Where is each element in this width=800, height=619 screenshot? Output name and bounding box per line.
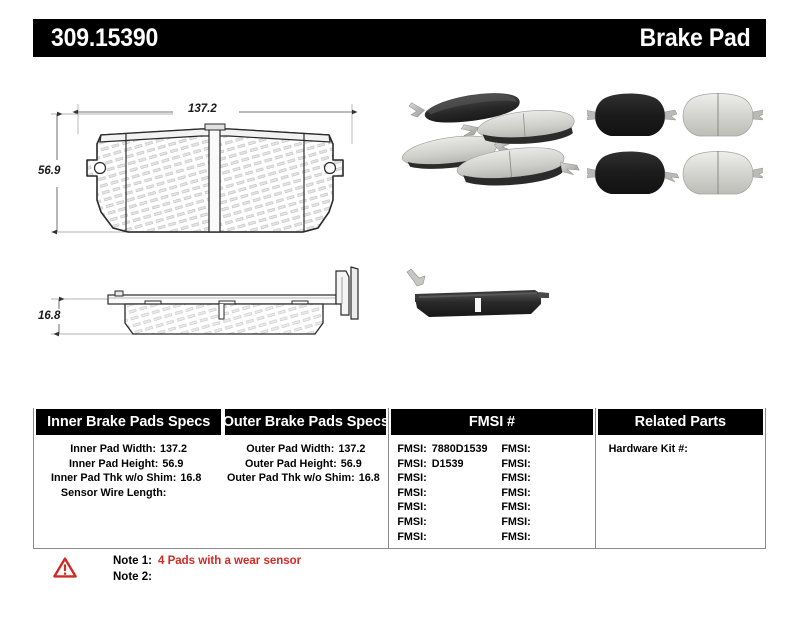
fmsi-value (531, 442, 536, 457)
fmsi-row: FMSI: (501, 500, 535, 515)
page-title: Brake Pad (639, 24, 750, 53)
fmsi-label: FMSI: (397, 515, 426, 530)
fmsi-label: FMSI: (501, 500, 530, 515)
dimension-width-label: 137.2 (185, 103, 220, 115)
spec-row: Outer Pad Height: 56.9 (223, 457, 388, 472)
spec-label: Sensor Wire Length: (61, 486, 166, 501)
brake-pad-photo-top-set (587, 86, 763, 204)
fmsi-value (427, 486, 432, 501)
related-part-label: Hardware Kit #: (609, 442, 688, 457)
fmsi-label: FMSI: (501, 457, 530, 472)
fmsi-row: FMSI: (397, 515, 501, 530)
page-header-bar: 309.15390 Brake Pad (33, 19, 766, 57)
spec-value (166, 486, 196, 501)
fmsi-row: FMSI: (397, 530, 501, 545)
note-2-text (152, 569, 158, 585)
fmsi-value (531, 530, 536, 545)
fmsi-value (427, 500, 432, 515)
note-lines: Note 1: 4 Pads with a wear sensor Note 2… (113, 553, 301, 585)
spec-row: Outer Pad Width: 137.2 (223, 442, 388, 457)
fmsi-label: FMSI: (501, 471, 530, 486)
spec-row: Outer Pad Thk w/o Shim: 16.8 (223, 471, 388, 486)
column-header-outer-specs: Outer Brake Pads Specs (225, 409, 386, 435)
column-body-inner-specs: Inner Pad Width: 137.2 Inner Pad Height:… (34, 435, 223, 500)
fmsi-row: FMSI: (501, 457, 535, 472)
notes-section: Note 1: 4 Pads with a wear sensor Note 2… (53, 553, 301, 585)
spec-value: 56.9 (158, 457, 188, 472)
fmsi-value (531, 486, 536, 501)
spec-value: 56.9 (337, 457, 367, 472)
column-header-fmsi: FMSI # (391, 409, 592, 435)
spec-row: Inner Pad Thk w/o Shim: 16.8 (34, 471, 223, 486)
fmsi-label: FMSI: (397, 486, 426, 501)
fmsi-row: FMSI: (501, 486, 535, 501)
column-body-related-parts: Hardware Kit #: (596, 435, 765, 457)
fmsi-label: FMSI: (501, 530, 530, 545)
brake-pad-front-view-drawing (33, 72, 393, 257)
spec-label: Inner Pad Width: (70, 442, 156, 457)
spec-row: Sensor Wire Length: (34, 486, 223, 501)
fmsi-value: D1539 (427, 457, 464, 472)
fmsi-row: FMSI: (501, 530, 535, 545)
spec-value: 16.8 (355, 471, 385, 486)
fmsi-row: FMSI: (397, 500, 501, 515)
part-number: 309.15390 (51, 24, 158, 53)
related-part-value (688, 442, 693, 457)
fmsi-row: FMSI: (501, 515, 535, 530)
table-column-inner-specs: Inner Brake Pads Specs Inner Pad Width: … (34, 408, 223, 548)
fmsi-label: FMSI: (397, 457, 426, 472)
spec-label: Inner Pad Thk w/o Shim: (51, 471, 176, 486)
column-body-outer-specs: Outer Pad Width: 137.2 Outer Pad Height:… (223, 435, 388, 486)
fmsi-value (427, 471, 432, 486)
fmsi-sub-column-a: FMSI: 7880D1539 FMSI: D1539 FMSI: FMSI: … (397, 442, 501, 544)
spec-value: 137.2 (156, 442, 187, 457)
engineering-drawing-panel: 137.2 56.9 (33, 72, 393, 382)
spec-label: Inner Pad Height: (69, 457, 158, 472)
fmsi-row: FMSI: (397, 471, 501, 486)
note-row-2: Note 2: (113, 569, 301, 585)
table-column-outer-specs: Outer Brake Pads Specs Outer Pad Width: … (223, 408, 388, 548)
note-1-label: Note 1: (113, 553, 152, 569)
spec-row: Inner Pad Width: 137.2 (34, 442, 223, 457)
fmsi-row: FMSI: (397, 486, 501, 501)
fmsi-value (531, 515, 536, 530)
column-body-fmsi: FMSI: 7880D1539 FMSI: D1539 FMSI: FMSI: … (389, 435, 594, 544)
fmsi-value (531, 471, 536, 486)
fmsi-row: FMSI: (501, 471, 535, 486)
fmsi-value (531, 457, 536, 472)
table-column-related-parts: Related Parts Hardware Kit #: (595, 408, 765, 548)
fmsi-label: FMSI: (397, 530, 426, 545)
fmsi-row: FMSI: (501, 442, 535, 457)
table-column-fmsi: FMSI # FMSI: 7880D1539 FMSI: D1539 FMSI:… (388, 408, 594, 548)
fmsi-label: FMSI: (501, 486, 530, 501)
spec-label: Outer Pad Height: (245, 457, 337, 472)
specifications-table: Inner Brake Pads Specs Inner Pad Width: … (33, 408, 766, 549)
fmsi-value (427, 530, 432, 545)
fmsi-value: 7880D1539 (427, 442, 488, 457)
fmsi-label: FMSI: (397, 471, 426, 486)
fmsi-label: FMSI: (397, 500, 426, 515)
note-row-1: Note 1: 4 Pads with a wear sensor (113, 553, 301, 569)
product-photo-panel (395, 72, 766, 382)
fmsi-sub-column-b: FMSI: FMSI: FMSI: FMSI: FMSI: (501, 442, 535, 544)
brake-pad-side-view-drawing (33, 257, 393, 367)
fmsi-row: FMSI: D1539 (397, 457, 501, 472)
fmsi-value (531, 500, 536, 515)
brake-pad-photo-edge-view (399, 262, 579, 332)
fmsi-label: FMSI: (501, 515, 530, 530)
column-header-inner-specs: Inner Brake Pads Specs (36, 409, 221, 435)
column-header-related-parts: Related Parts (598, 409, 763, 435)
spec-value: 137.2 (334, 442, 365, 457)
fmsi-value (427, 515, 432, 530)
dimension-height-label: 56.9 (35, 165, 63, 177)
note-1-text: 4 Pads with a wear sensor (152, 553, 301, 569)
fmsi-label: FMSI: (397, 442, 426, 457)
dimension-thickness-label: 16.8 (35, 310, 63, 322)
spec-row: Inner Pad Height: 56.9 (34, 457, 223, 472)
note-2-label: Note 2: (113, 569, 152, 585)
spec-label: Outer Pad Thk w/o Shim: (227, 471, 355, 486)
fmsi-label: FMSI: (501, 442, 530, 457)
warning-triangle-icon (53, 557, 77, 578)
fmsi-row: FMSI: 7880D1539 (397, 442, 501, 457)
related-part-row: Hardware Kit #: (609, 442, 765, 457)
spec-value: 16.8 (176, 471, 206, 486)
spec-label: Outer Pad Width: (246, 442, 334, 457)
brake-pad-photo-angled-set (395, 90, 580, 205)
